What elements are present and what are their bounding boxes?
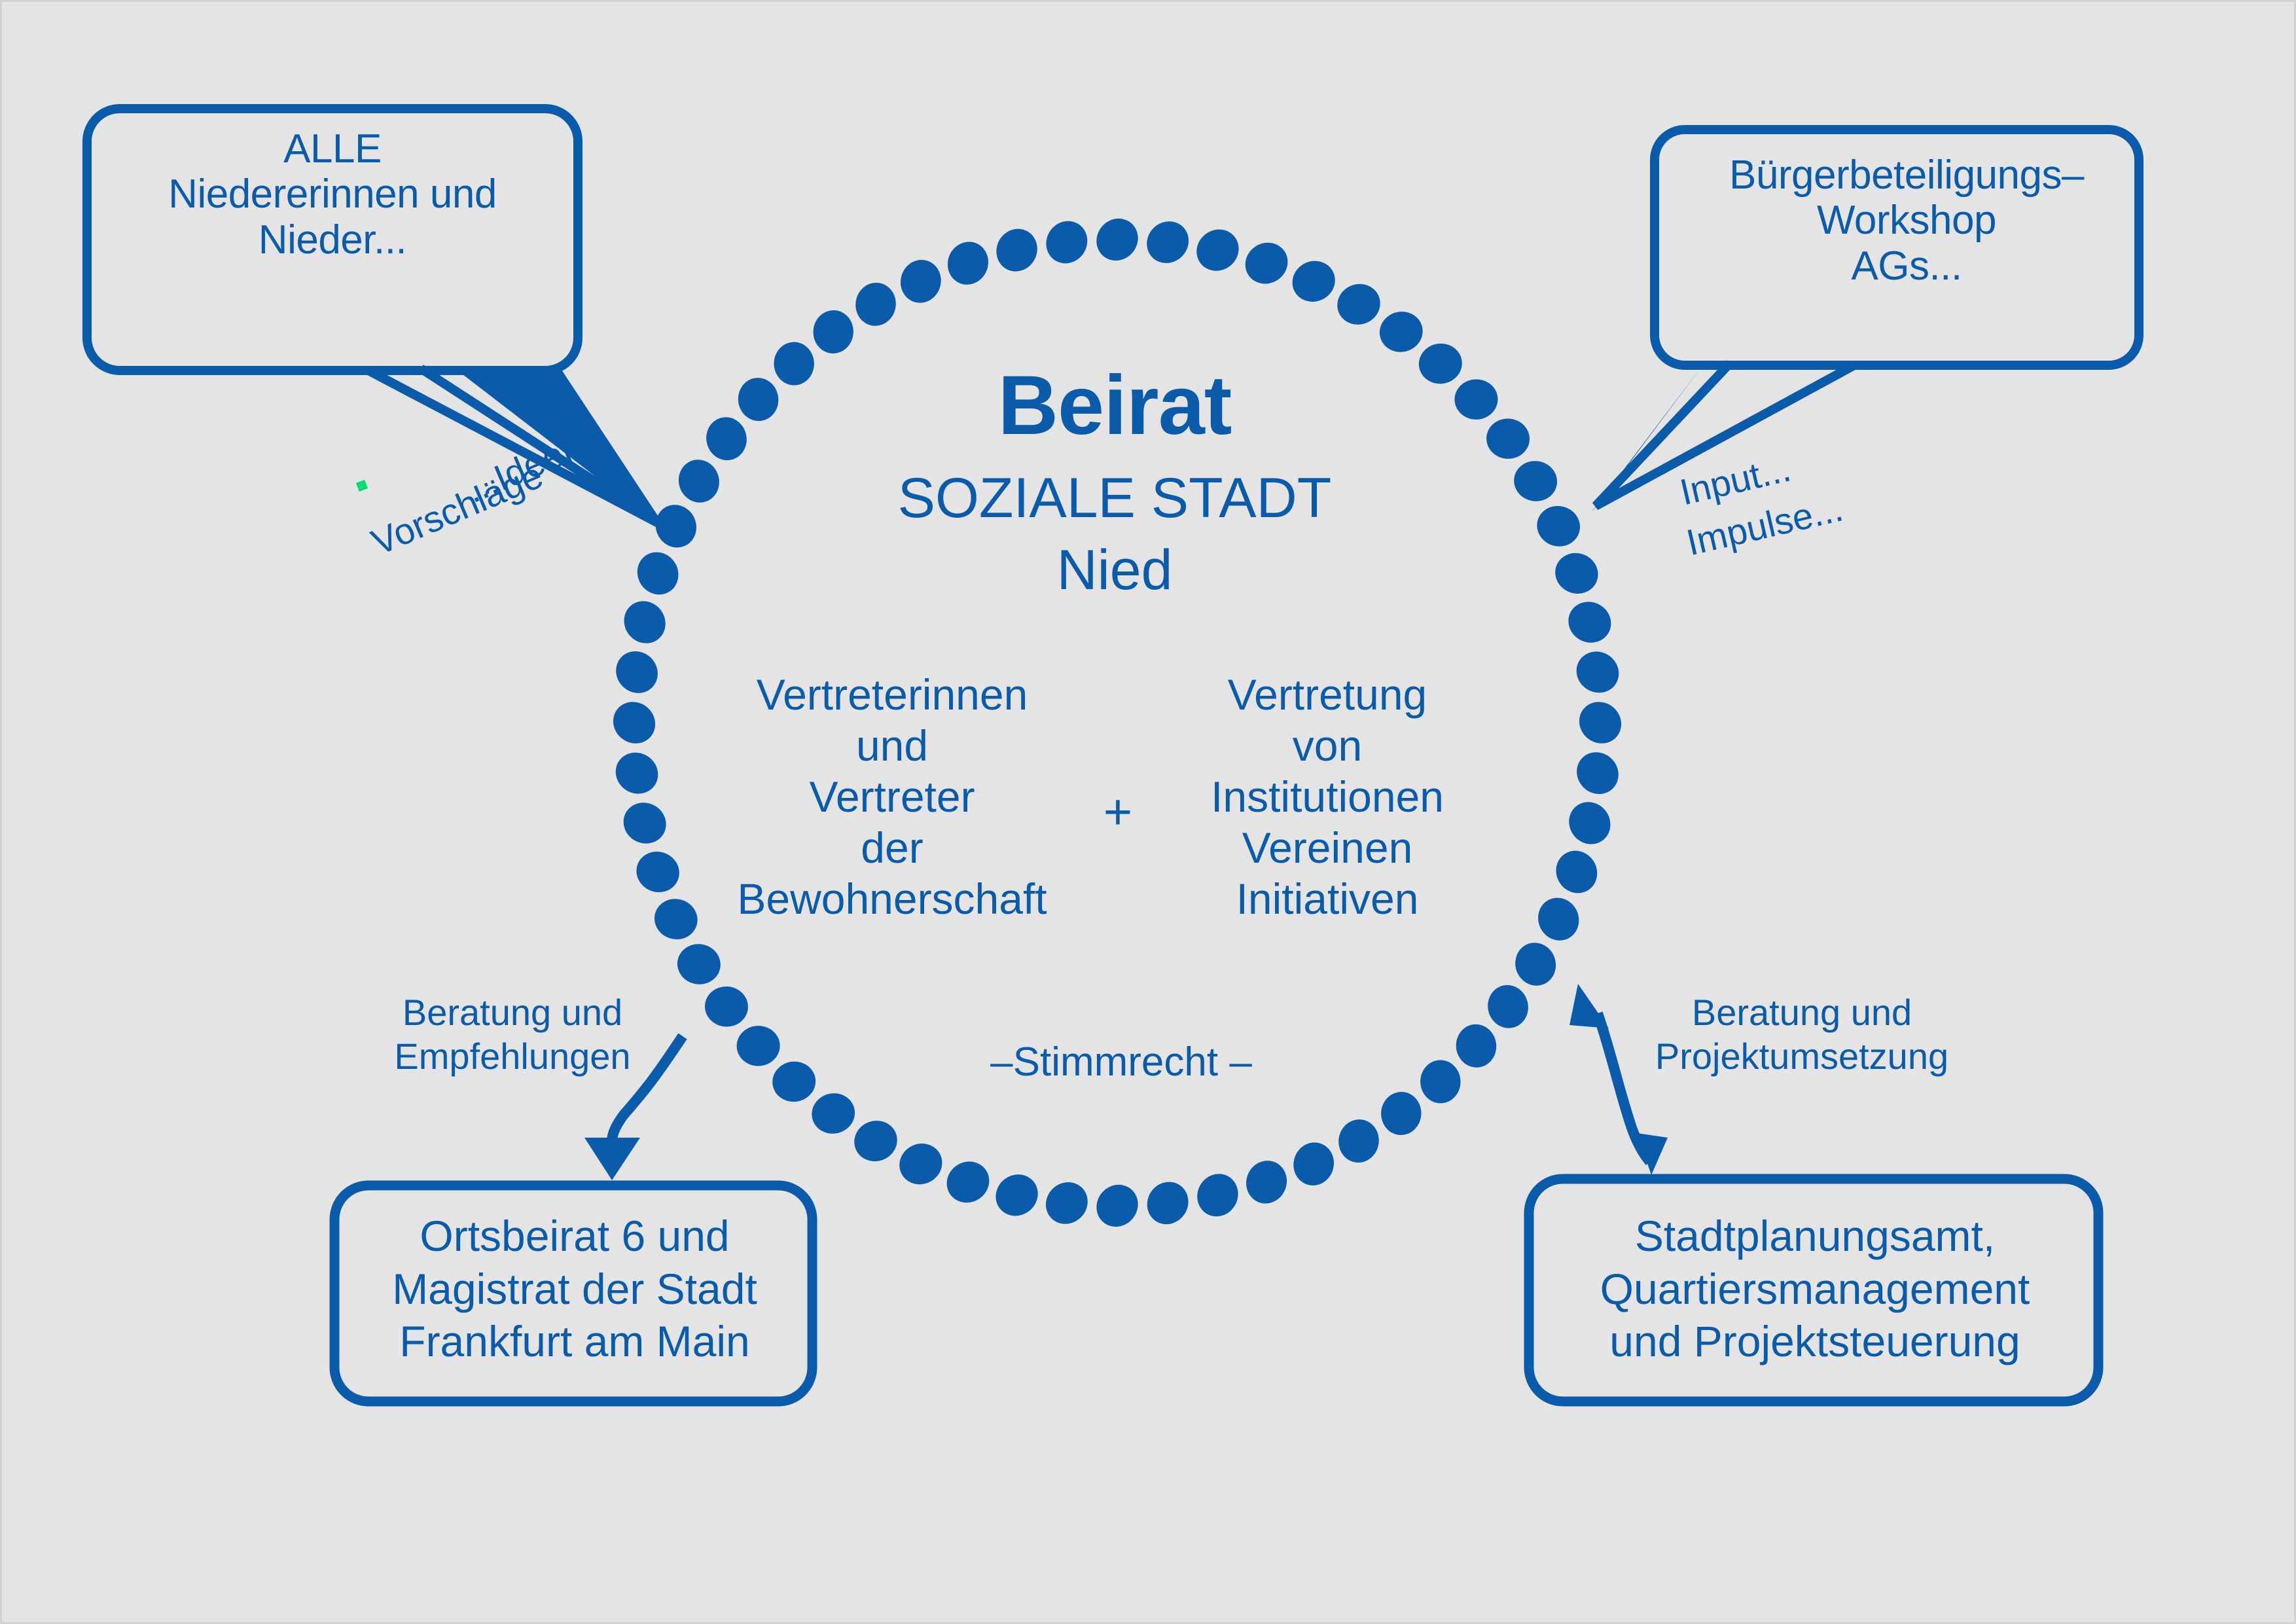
- circle-dot: [1532, 501, 1585, 551]
- circle-dot: [1531, 891, 1586, 947]
- circle-dot: [1483, 981, 1533, 1032]
- annotation-beratung-projektumsetzung: Beratung und Projektumsetzung: [1645, 990, 1959, 1078]
- circle-dot: [616, 593, 674, 652]
- circle-dot: [1485, 417, 1531, 460]
- circle-dot: [1240, 1155, 1293, 1210]
- circle-dot: [939, 1153, 997, 1210]
- circle-dot: [852, 280, 899, 329]
- circle-dot: [1088, 1176, 1146, 1235]
- circle-dot: [1454, 378, 1498, 420]
- center-column-right: Vertretung von Institutionen Vereinen In…: [1160, 670, 1494, 924]
- circle-dot: [770, 1058, 818, 1104]
- circle-dot: [1380, 1091, 1423, 1136]
- circle-dot: [895, 255, 946, 308]
- circle-dot: [1289, 1138, 1339, 1190]
- circle-dot: [1549, 547, 1604, 600]
- circle-dot: [1568, 744, 1627, 803]
- center-column-left: Vertreterinnen und Vertreter der Bewohne…: [709, 670, 1075, 924]
- circle-dot: [1375, 307, 1427, 357]
- circle-dot: [1238, 235, 1295, 292]
- circle-dot: [893, 1136, 949, 1191]
- circle-dot: [1335, 1116, 1382, 1166]
- circle-dot: [1560, 794, 1619, 853]
- circle-dot: [1509, 937, 1562, 991]
- circle-dot: [848, 1115, 903, 1167]
- circle-dot: [1420, 1059, 1462, 1104]
- box-bottom-right-label: Stadtplanungsamt, Quartiersmanagement un…: [1547, 1210, 2083, 1368]
- circle-dot: [617, 795, 673, 851]
- circle-dot: [1453, 1022, 1499, 1070]
- circle-dot: [704, 985, 749, 1028]
- circle-dot: [1561, 594, 1618, 650]
- box-bottom-left-label: Ortsbeirat 6 und Magistrat der Stadt Fra…: [349, 1210, 800, 1368]
- circle-dot: [736, 1025, 781, 1067]
- speech-bubble-top-left-label: ALLE Niedererinnen und Nieder...: [100, 126, 565, 262]
- circle-dot: [1139, 1174, 1196, 1232]
- circle-dot: [605, 693, 664, 751]
- circle-dot: [630, 845, 685, 899]
- circle-dot: [1138, 213, 1197, 272]
- center-subtitle-line-2: Nied: [820, 539, 1409, 602]
- circle-dot: [808, 1089, 859, 1138]
- circle-dot: [988, 1166, 1047, 1224]
- circle-dot: [1331, 278, 1386, 331]
- circle-dot: [1571, 693, 1630, 751]
- center-plus-sign: +: [1085, 787, 1151, 837]
- circle-dot: [607, 643, 666, 702]
- circle-dot: [941, 236, 995, 291]
- voting-rights-note: –Stimmrecht –: [938, 1039, 1304, 1085]
- annotation-beratung-empfehlungen: Beratung und Empfehlungen: [375, 990, 650, 1078]
- circle-dot: [773, 342, 815, 386]
- green-marker-icon: [356, 480, 368, 492]
- circle-dot: [630, 545, 687, 602]
- circle-dot: [1189, 221, 1247, 280]
- circle-dot: [1511, 458, 1560, 505]
- circle-dot: [1038, 213, 1096, 272]
- circle-dot: [736, 375, 781, 424]
- circle-dot: [989, 222, 1045, 279]
- diagram-canvas: ALLE Niedererinnen und Nieder... Bürgerb…: [0, 0, 2296, 1624]
- circle-dot: [1088, 210, 1146, 269]
- circle-dot: [650, 894, 702, 945]
- circle-dot: [1285, 254, 1342, 309]
- circle-dot: [673, 454, 725, 508]
- circle-dot: [1548, 843, 1605, 901]
- circle-dot: [608, 744, 666, 802]
- center-title: Beirat: [820, 359, 1409, 452]
- center-subtitle-line-1: SOZIALE STADT: [820, 467, 1409, 530]
- circle-dot: [1190, 1166, 1246, 1223]
- circle-dot: [1416, 341, 1465, 387]
- speech-bubble-top-right-label: Bürgerbeteiligungs– Workshop AGs...: [1668, 153, 2145, 289]
- circle-dot: [702, 413, 751, 465]
- circle-dot: [1568, 643, 1626, 701]
- circle-dot: [1037, 1174, 1096, 1233]
- circle-dot: [674, 941, 724, 988]
- circle-dot: [812, 309, 855, 355]
